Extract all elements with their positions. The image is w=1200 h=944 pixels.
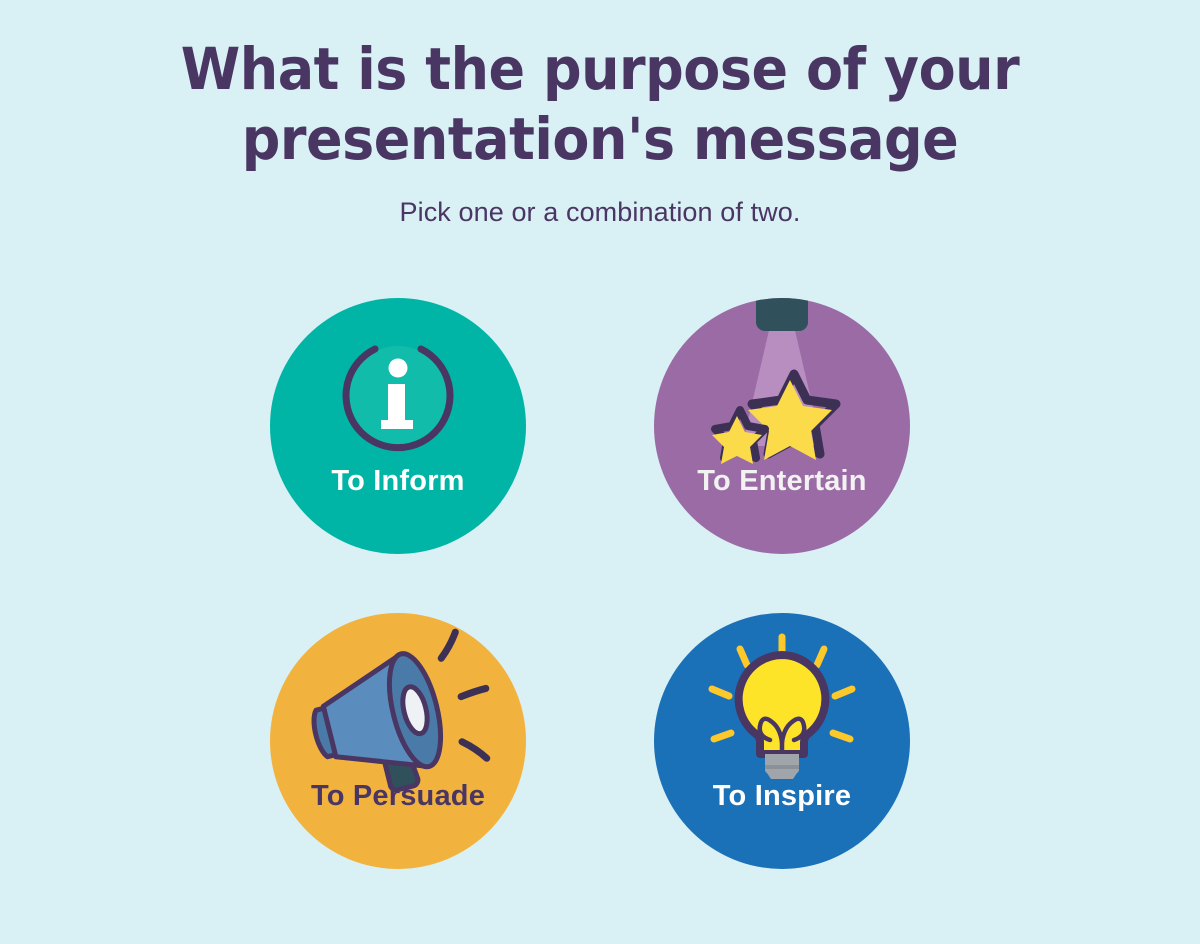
option-card-inform[interactable]: To Inform [270,298,526,554]
option-card-inspire[interactable]: To Inspire [654,613,910,869]
page-title-line-2: presentation's message [42,104,1158,174]
lightbulb-icon [654,613,910,869]
option-card-persuade[interactable]: To Persuade [270,613,526,869]
icon-container-inspire [654,613,910,869]
infographic-poster: What is the purpose of your presentation… [0,0,1200,944]
page-title-line-1: What is the purpose of your [42,34,1158,104]
page-title: What is the purpose of your presentation… [42,34,1158,174]
option-circle-inspire[interactable]: To Inspire [654,613,910,869]
megaphone-icon [270,613,526,869]
header: What is the purpose of your presentation… [0,34,1200,228]
option-circle-persuade[interactable]: To Persuade [270,613,526,869]
option-label-entertain: To Entertain [654,464,910,498]
option-label-inform: To Inform [270,464,526,498]
page-subtitle: Pick one or a combination of two. [0,196,1200,228]
spotlight-stars-icon [654,298,910,554]
icon-container-persuade [270,613,526,869]
option-circle-entertain[interactable]: To Entertain [654,298,910,554]
icon-container-inform [270,298,526,554]
option-label-inspire: To Inspire [654,779,910,813]
info-circle-icon [270,298,526,554]
option-card-entertain[interactable]: To Entertain [654,298,910,554]
option-label-persuade: To Persuade [270,779,526,813]
icon-container-entertain [654,298,910,554]
option-circle-inform[interactable]: To Inform [270,298,526,554]
purpose-options-grid: To Inform [0,298,1200,898]
